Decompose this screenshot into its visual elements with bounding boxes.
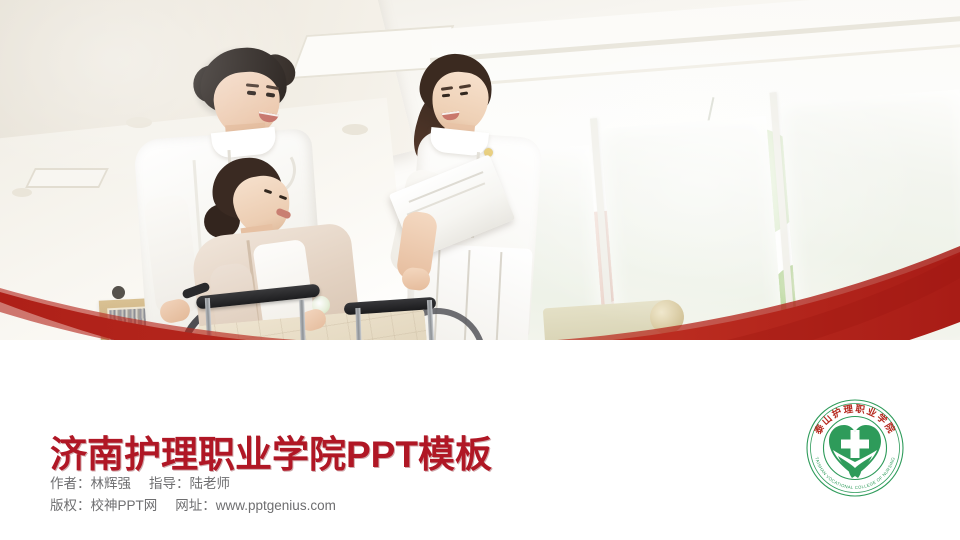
site-url[interactable]: www.pptgenius.com bbox=[216, 498, 336, 513]
slide-canvas: 济南护理职业学院PPT模板 作者：林辉强指导：陆老师 版权：校神PPT网网址：w… bbox=[0, 0, 960, 540]
advisor-value: 陆老师 bbox=[190, 476, 231, 491]
credits-block: 作者：林辉强指导：陆老师 版权：校神PPT网网址：www.pptgenius.c… bbox=[50, 473, 336, 517]
college-logo: 泰山护理职业学院 TAISHAN VOCATIONAL COLLEGE OF N… bbox=[805, 398, 905, 498]
site-label: 网址： bbox=[175, 498, 216, 513]
male-nurse-eye bbox=[247, 91, 256, 96]
photo-downlight bbox=[126, 117, 152, 128]
page-title: 济南护理职业学院PPT模板 bbox=[50, 424, 492, 478]
photo-ceiling-vent-secondary bbox=[25, 168, 109, 188]
photo-downlight bbox=[12, 188, 32, 197]
photo-window-pane bbox=[780, 89, 960, 340]
hero-photo bbox=[0, 0, 960, 340]
photo-downlight bbox=[342, 124, 368, 135]
author-value: 林辉强 bbox=[91, 476, 132, 491]
credits-line-authors: 作者：林辉强指导：陆老师 bbox=[50, 473, 336, 495]
advisor-label: 指导： bbox=[149, 476, 190, 491]
credits-line-copyright: 版权：校神PPT网网址：www.pptgenius.com bbox=[50, 495, 336, 517]
copyright-value: 校神PPT网 bbox=[91, 498, 158, 513]
author-label: 作者： bbox=[50, 476, 91, 491]
copyright-label: 版权： bbox=[50, 498, 91, 513]
